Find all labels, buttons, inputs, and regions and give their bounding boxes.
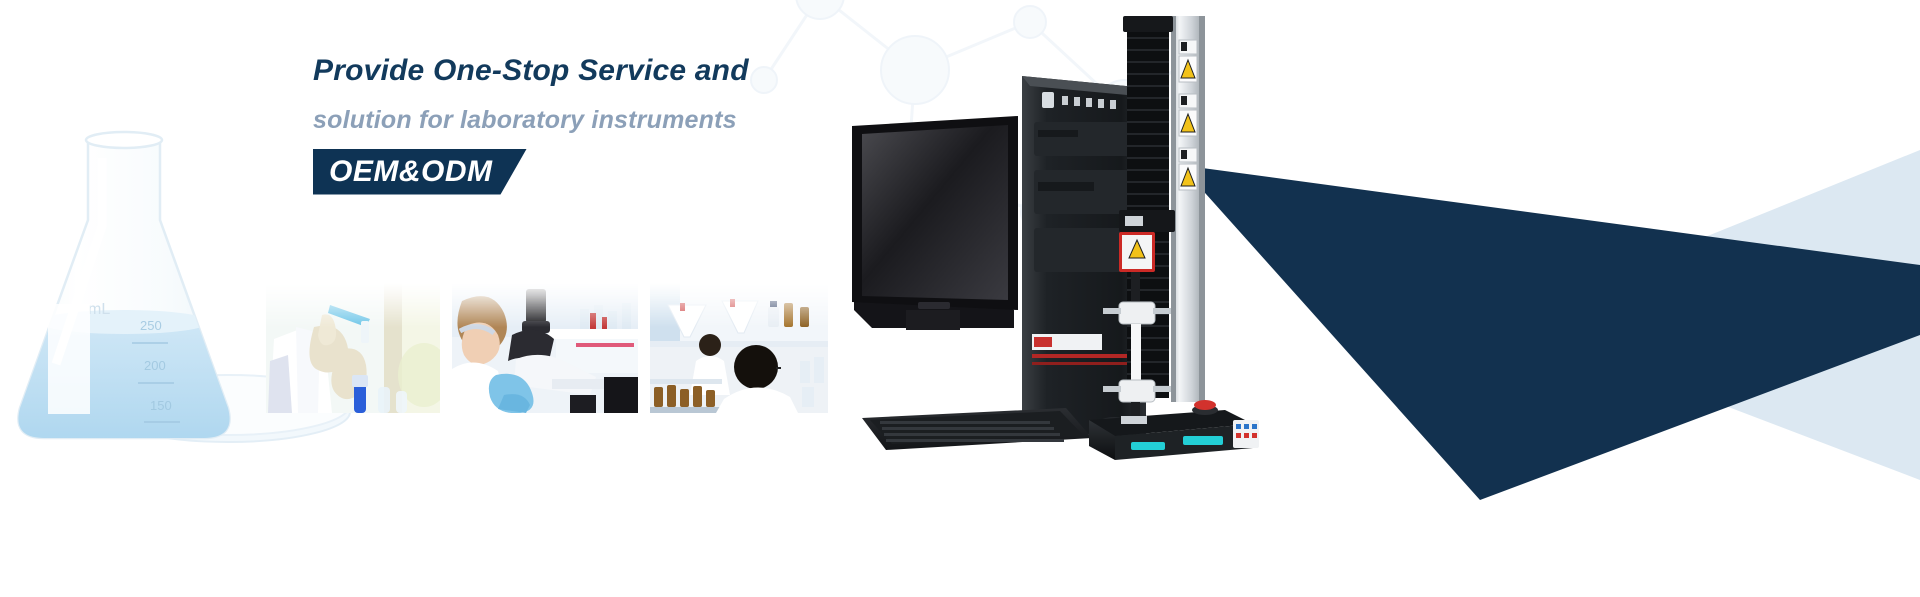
- arrow-triangle-light-shape: [1220, 150, 1920, 480]
- oem-odm-badge: OEM&ODM: [313, 149, 527, 195]
- warning-triangle-icon: [1179, 40, 1197, 82]
- photo-pipetting-technician: [266, 283, 440, 413]
- warning-triangle-icon: [1179, 94, 1197, 136]
- svg-text:200: 200: [144, 358, 166, 373]
- lcd-monitor-image: [852, 116, 1018, 330]
- svg-text:250: 250: [140, 318, 162, 333]
- warning-triangle-icon: [1179, 148, 1197, 190]
- emergency-stop-button-icon: [1192, 400, 1218, 415]
- svg-text:150: 150: [150, 398, 172, 413]
- hero-banner: 250 200 150 mL Provide One-Stop Service …: [0, 0, 1920, 597]
- universal-tensile-testing-machine-image: [1075, 12, 1265, 462]
- svg-text:mL: mL: [88, 301, 110, 318]
- keyboard-image: [862, 408, 1092, 450]
- photo-laboratory-workers: [650, 283, 828, 413]
- oem-odm-badge-wrapper: OEM&ODM: [313, 149, 527, 195]
- photo-microscope-researcher: [452, 283, 638, 413]
